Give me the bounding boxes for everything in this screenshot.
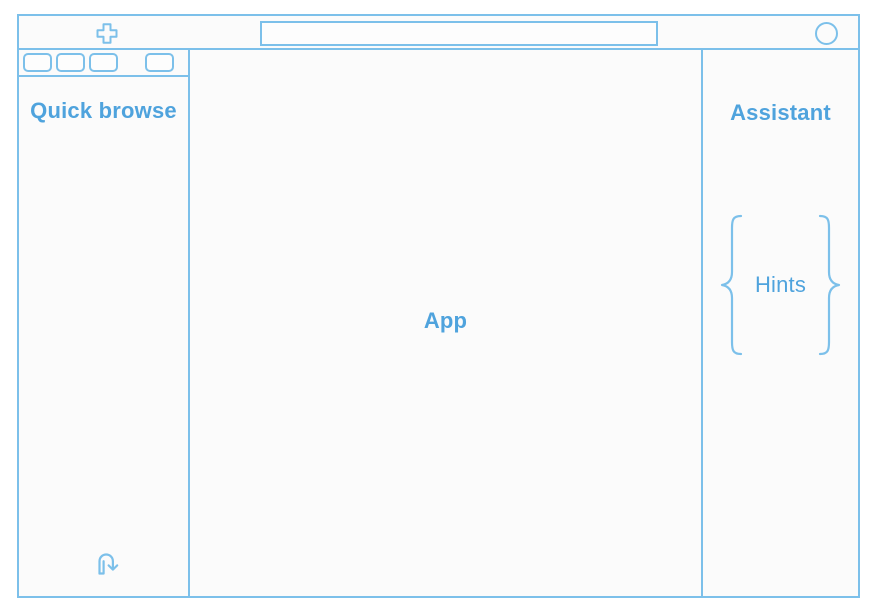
plus-icon[interactable]: [96, 23, 118, 44]
right-curly-brace-icon: [816, 214, 842, 356]
app-panel-label: App: [424, 308, 467, 334]
tab-chip-2[interactable]: [56, 53, 85, 72]
hints-group: Hints: [703, 210, 858, 360]
tab-chip-1[interactable]: [23, 53, 52, 72]
assistant-panel: Assistant Hints: [703, 50, 858, 596]
app-panel: App: [190, 50, 703, 596]
hints-label: Hints: [745, 272, 816, 298]
circle-avatar-icon[interactable]: [815, 22, 838, 45]
assistant-title: Assistant: [703, 100, 858, 126]
sidebar-panel: Quick browse: [19, 50, 190, 596]
tab-chip-3[interactable]: [89, 53, 118, 72]
wireframe-window: Quick browse App Assistant: [17, 14, 860, 598]
tab-chip-overflow[interactable]: [145, 53, 174, 72]
sidebar-title: Quick browse: [19, 98, 188, 125]
sidebar-tab-strip: [19, 50, 188, 77]
left-curly-brace-icon: [719, 214, 745, 356]
u-turn-arrow-icon[interactable]: [93, 548, 123, 578]
search-input[interactable]: [260, 21, 658, 46]
window-body: Quick browse App Assistant: [19, 50, 858, 596]
top-bar: [19, 16, 858, 50]
